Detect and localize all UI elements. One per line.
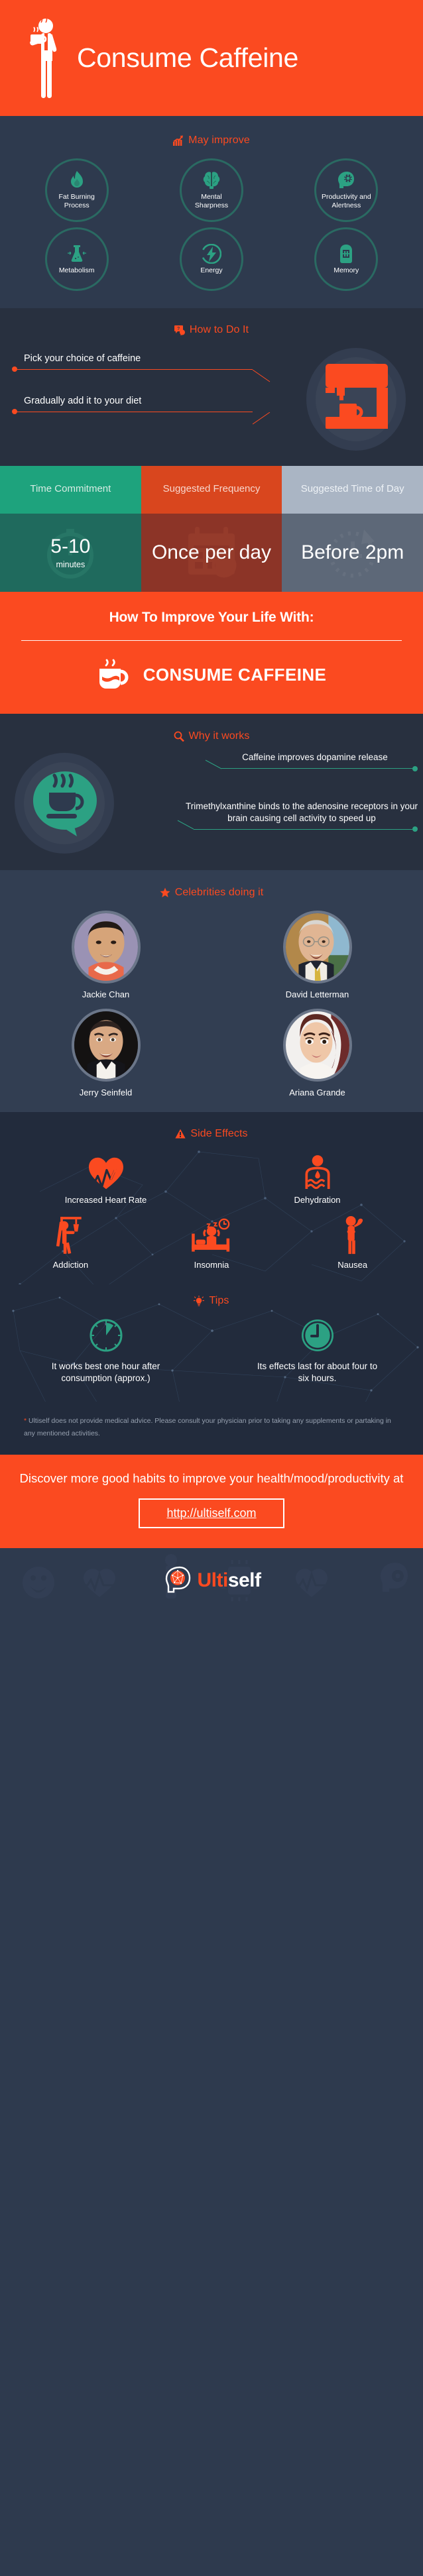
- side-effect-item: Addiction: [14, 1214, 127, 1270]
- celebrity-name: Jackie Chan: [56, 989, 156, 999]
- banner-divider: [21, 640, 402, 641]
- tip-text: It works best one hour after consumption…: [40, 1361, 172, 1384]
- why-it-works-section: Why it works Caffeine improves dopamine …: [0, 714, 423, 870]
- fact-connector-line: [221, 768, 412, 769]
- warning-triangle-icon: [175, 1129, 186, 1139]
- improve-item-label: Memory: [333, 266, 359, 275]
- tips-section: Tips It works best one: [0, 1284, 423, 1402]
- footer-section: Ultiself: [0, 1548, 423, 1613]
- star-icon: [160, 887, 170, 898]
- avatar: [283, 911, 352, 983]
- tips-grid: It works best one hour after consumption…: [0, 1317, 423, 1384]
- celebrity-card: Ariana Grande: [268, 1009, 367, 1097]
- how-to-step: Pick your choice of caffeine: [12, 353, 290, 372]
- step-bullet-dot: [12, 409, 17, 414]
- side-effects-row-1: Increased Heart Rate Dehydration: [0, 1149, 423, 1205]
- website-link-button[interactable]: http://ultiself.com: [139, 1498, 284, 1528]
- why-fact: Trimethylxanthine binds to the adenosine…: [186, 801, 418, 832]
- nausea-person-icon: [296, 1214, 409, 1255]
- coffee-machine-icon: [324, 363, 390, 437]
- why-fact: Caffeine improves dopamine release: [212, 752, 418, 771]
- side-effect-label: Dehydration: [261, 1195, 374, 1205]
- celebrities-heading: Celebrities doing it: [0, 887, 423, 899]
- how-to-step-text: Pick your choice of caffeine: [24, 353, 290, 364]
- tip-item: Its effects last for about four to six h…: [251, 1317, 384, 1384]
- improve-item-metabolism: Metabolism: [45, 227, 109, 291]
- fact-end-dot: [412, 766, 418, 771]
- footer-brand-first: Ulti: [197, 1569, 227, 1591]
- celebrity-card: David Letterman: [268, 911, 367, 999]
- tips-heading-label: Tips: [209, 1295, 229, 1307]
- stats-value-number: Before 2pm: [301, 542, 404, 563]
- celebrity-card: Jerry Seinfeld: [56, 1009, 156, 1097]
- banner-title: How To Improve Your Life With:: [20, 610, 403, 626]
- side-effect-label: Increased Heart Rate: [50, 1195, 162, 1205]
- lightbulb-icon: [194, 1296, 204, 1306]
- how-to-heading: ? How to Do It: [0, 324, 423, 336]
- disclaimer-body: Ultiself does not provide medical advice…: [24, 1417, 391, 1437]
- tip-item: It works best one hour after consumption…: [40, 1317, 172, 1384]
- fact-connector-line: [194, 829, 412, 830]
- steaming-mug-icon: [97, 657, 133, 693]
- celebrity-name: Ariana Grande: [268, 1088, 367, 1097]
- side-effect-item: Nausea: [296, 1214, 409, 1270]
- may-improve-heading-label: May improve: [188, 135, 250, 146]
- lightning-bolt-icon: [202, 244, 221, 264]
- how-to-step-text: Gradually add it to your diet: [24, 396, 290, 406]
- may-improve-section: May improve Fat Burning Process: [0, 116, 423, 308]
- magnifier-icon: [174, 731, 184, 742]
- cta-section: Discover more good habits to improve you…: [0, 1455, 423, 1547]
- tip-text: Its effects last for about four to six h…: [251, 1361, 384, 1384]
- fact-end-dot: [412, 826, 418, 832]
- coffee-speech-bubble-icon: [32, 770, 98, 839]
- why-fact-text: Trimethylxanthine binds to the adenosine…: [186, 801, 418, 824]
- improve-item-mental-sharpness: Mental Sharpness: [180, 158, 243, 222]
- footer-brand: Ultiself: [197, 1569, 261, 1592]
- heart-pulse-icon: [50, 1149, 162, 1190]
- why-fact-text: Caffeine improves dopamine release: [212, 752, 418, 763]
- step-connector-hook: [253, 369, 271, 382]
- why-it-works-heading-label: Why it works: [189, 730, 250, 742]
- brain-icon: [202, 170, 221, 190]
- step-connector-line: [17, 412, 253, 412]
- side-effect-item: Dehydration: [261, 1149, 374, 1205]
- improve-item-label: Productivity and Alertness: [319, 193, 373, 210]
- tips-heading: Tips: [0, 1295, 423, 1307]
- metabolism-flask-icon: [67, 244, 87, 264]
- side-effect-item: Insomnia: [155, 1214, 268, 1270]
- insomnia-bed-icon: [155, 1214, 268, 1255]
- stats-value-unit: minutes: [56, 560, 85, 569]
- svg-text:?: ?: [177, 327, 180, 331]
- footer-brand-second: self: [228, 1569, 261, 1591]
- improve-item-memory: Memory: [314, 227, 378, 291]
- stats-value-suggested-time-of-day: Before 2pm: [282, 514, 423, 592]
- side-effects-section: Side Effects Increased Heart Rate: [0, 1112, 423, 1284]
- stats-value-suggested-frequency: Once per day: [141, 514, 282, 592]
- page-title: Consume Caffeine: [77, 44, 298, 72]
- how-to-do-it-section: ? How to Do It: [0, 308, 423, 466]
- stats-table: Time Commitment Suggested Frequency Sugg…: [0, 466, 423, 592]
- side-effects-row-2: Addiction: [0, 1214, 423, 1270]
- improve-item-label: Mental Sharpness: [184, 193, 239, 210]
- improve-item-label: Metabolism: [59, 266, 95, 275]
- fact-connector-hook: [176, 820, 194, 834]
- improve-item-label: Energy: [200, 266, 222, 275]
- infographic-page: Consume Caffeine May improve: [0, 0, 423, 2576]
- addiction-iv-drip-icon: [14, 1214, 127, 1255]
- celebrities-heading-label: Celebrities doing it: [175, 887, 264, 899]
- side-effect-label: Insomnia: [155, 1260, 268, 1270]
- stats-value-number: Once per day: [152, 542, 271, 563]
- person-drinking-coffee-icon: [25, 17, 65, 99]
- celebrity-name: David Letterman: [268, 989, 367, 999]
- banner-brand: CONSUME CAFFEINE: [20, 657, 403, 693]
- footer-logo: Ultiself: [162, 1565, 261, 1596]
- improve-item-label: Fat Burning Process: [50, 193, 104, 210]
- stats-value-time-commitment: 5-10 minutes: [0, 514, 141, 592]
- flame-icon: [67, 170, 87, 190]
- step-connector-line: [17, 369, 253, 370]
- may-improve-heading: May improve: [0, 135, 423, 146]
- why-it-works-heading: Why it works: [0, 730, 423, 742]
- bar-chart-rising-icon: [173, 135, 184, 146]
- side-effect-label: Addiction: [14, 1260, 127, 1270]
- improve-item-energy: Energy: [180, 227, 243, 291]
- disclaimer-text: * Ultiself does not provide medical advi…: [24, 1415, 399, 1441]
- stats-header-suggested-time-of-day: Suggested Time of Day: [282, 466, 423, 514]
- disclaimer-section: * Ultiself does not provide medical advi…: [0, 1402, 423, 1455]
- avatar: [72, 1009, 141, 1082]
- memory-chip-icon: [336, 244, 356, 264]
- side-effects-heading-label: Side Effects: [190, 1128, 247, 1140]
- how-to-heading-label: How to Do It: [190, 324, 249, 336]
- improve-item-productivity: Productivity and Alertness: [314, 158, 378, 222]
- head-gear-icon: [336, 170, 356, 190]
- how-to-step: Gradually add it to your diet: [12, 396, 290, 414]
- celebrity-card: Jackie Chan: [56, 911, 156, 999]
- stats-header-time-commitment: Time Commitment: [0, 466, 141, 514]
- fact-connector-hook: [204, 759, 221, 773]
- page-header: Consume Caffeine: [0, 0, 423, 116]
- improve-life-banner: How To Improve Your Life With: CONSUME C…: [0, 592, 423, 714]
- celebrities-section: Celebrities doing it: [0, 870, 423, 1112]
- side-effect-item: Increased Heart Rate: [50, 1149, 162, 1205]
- head-brain-network-icon: [162, 1565, 192, 1596]
- celebrity-name: Jerry Seinfeld: [56, 1088, 156, 1097]
- improve-item-fat-burning: Fat Burning Process: [45, 158, 109, 222]
- cta-text: Discover more good habits to improve you…: [17, 1471, 406, 1486]
- avatar: [72, 911, 141, 983]
- avatar: [283, 1009, 352, 1082]
- stats-header-suggested-frequency: Suggested Frequency: [141, 466, 282, 514]
- side-effects-heading: Side Effects: [0, 1128, 423, 1140]
- dehydrated-person-icon: [261, 1149, 374, 1190]
- side-effect-label: Nausea: [296, 1260, 409, 1270]
- stats-value-number: 5-10: [50, 536, 90, 557]
- clock-icon: [300, 1317, 335, 1353]
- celebrities-grid: Jackie Chan: [0, 911, 423, 1097]
- timer-dial-icon: [88, 1317, 124, 1353]
- may-improve-grid: Fat Burning Process Mental Sharpness: [0, 158, 423, 291]
- step-connector-hook: [253, 412, 271, 425]
- banner-brand-label: CONSUME CAFFEINE: [143, 665, 327, 685]
- step-bullet-dot: [12, 366, 17, 372]
- speech-bubble-question-icon: ?: [174, 325, 185, 335]
